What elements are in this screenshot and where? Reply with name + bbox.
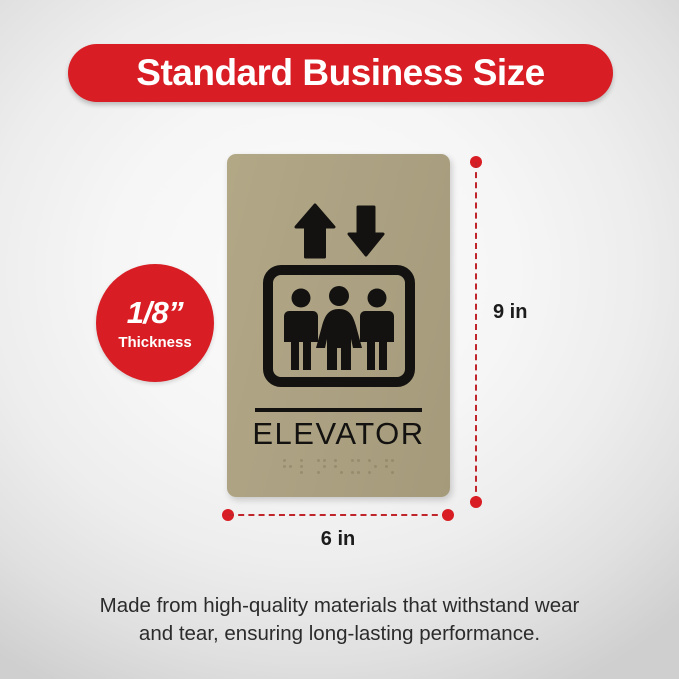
dimension-endpoint-dot (470, 496, 482, 508)
braille-cell (385, 459, 395, 475)
arrow-down-icon (347, 205, 385, 257)
dimension-dashed-line (228, 514, 448, 516)
arrow-up-icon (293, 203, 337, 259)
braille-dots (227, 459, 450, 475)
braille-cell (317, 459, 327, 475)
title-banner: Standard Business Size (68, 44, 613, 102)
braille-cell (368, 459, 378, 475)
braille-cell (334, 459, 344, 475)
sign-divider-rule (255, 408, 422, 412)
braille-cell (351, 459, 361, 475)
elevator-car-frame-icon (263, 265, 415, 387)
width-dimension-label: 6 in (222, 529, 454, 549)
dimension-endpoint-dot (442, 509, 454, 521)
sign-word-label: ELEVATOR (227, 418, 450, 449)
elevator-sign-plate: ELEVATOR (227, 154, 450, 497)
direction-arrows (227, 202, 450, 260)
caption-line-1: Made from high-quality materials that wi… (56, 592, 623, 620)
height-dimension-label: 9 in (493, 302, 527, 322)
dimension-dashed-line (475, 162, 477, 502)
infographic-page: Standard Business Size 1/8” Thickness (0, 0, 679, 679)
page-title: Standard Business Size (136, 54, 544, 91)
thickness-value: 1/8” (127, 297, 184, 328)
caption-text: Made from high-quality materials that wi… (56, 592, 623, 649)
three-people-icon (284, 286, 394, 370)
height-dimension-line (470, 156, 482, 508)
braille-cell (300, 459, 310, 475)
thickness-label: Thickness (118, 335, 191, 350)
caption-line-2: and tear, ensuring long-lasting performa… (56, 620, 623, 648)
width-dimension-line (222, 509, 454, 521)
thickness-badge: 1/8” Thickness (96, 264, 214, 382)
braille-cell (283, 459, 293, 475)
